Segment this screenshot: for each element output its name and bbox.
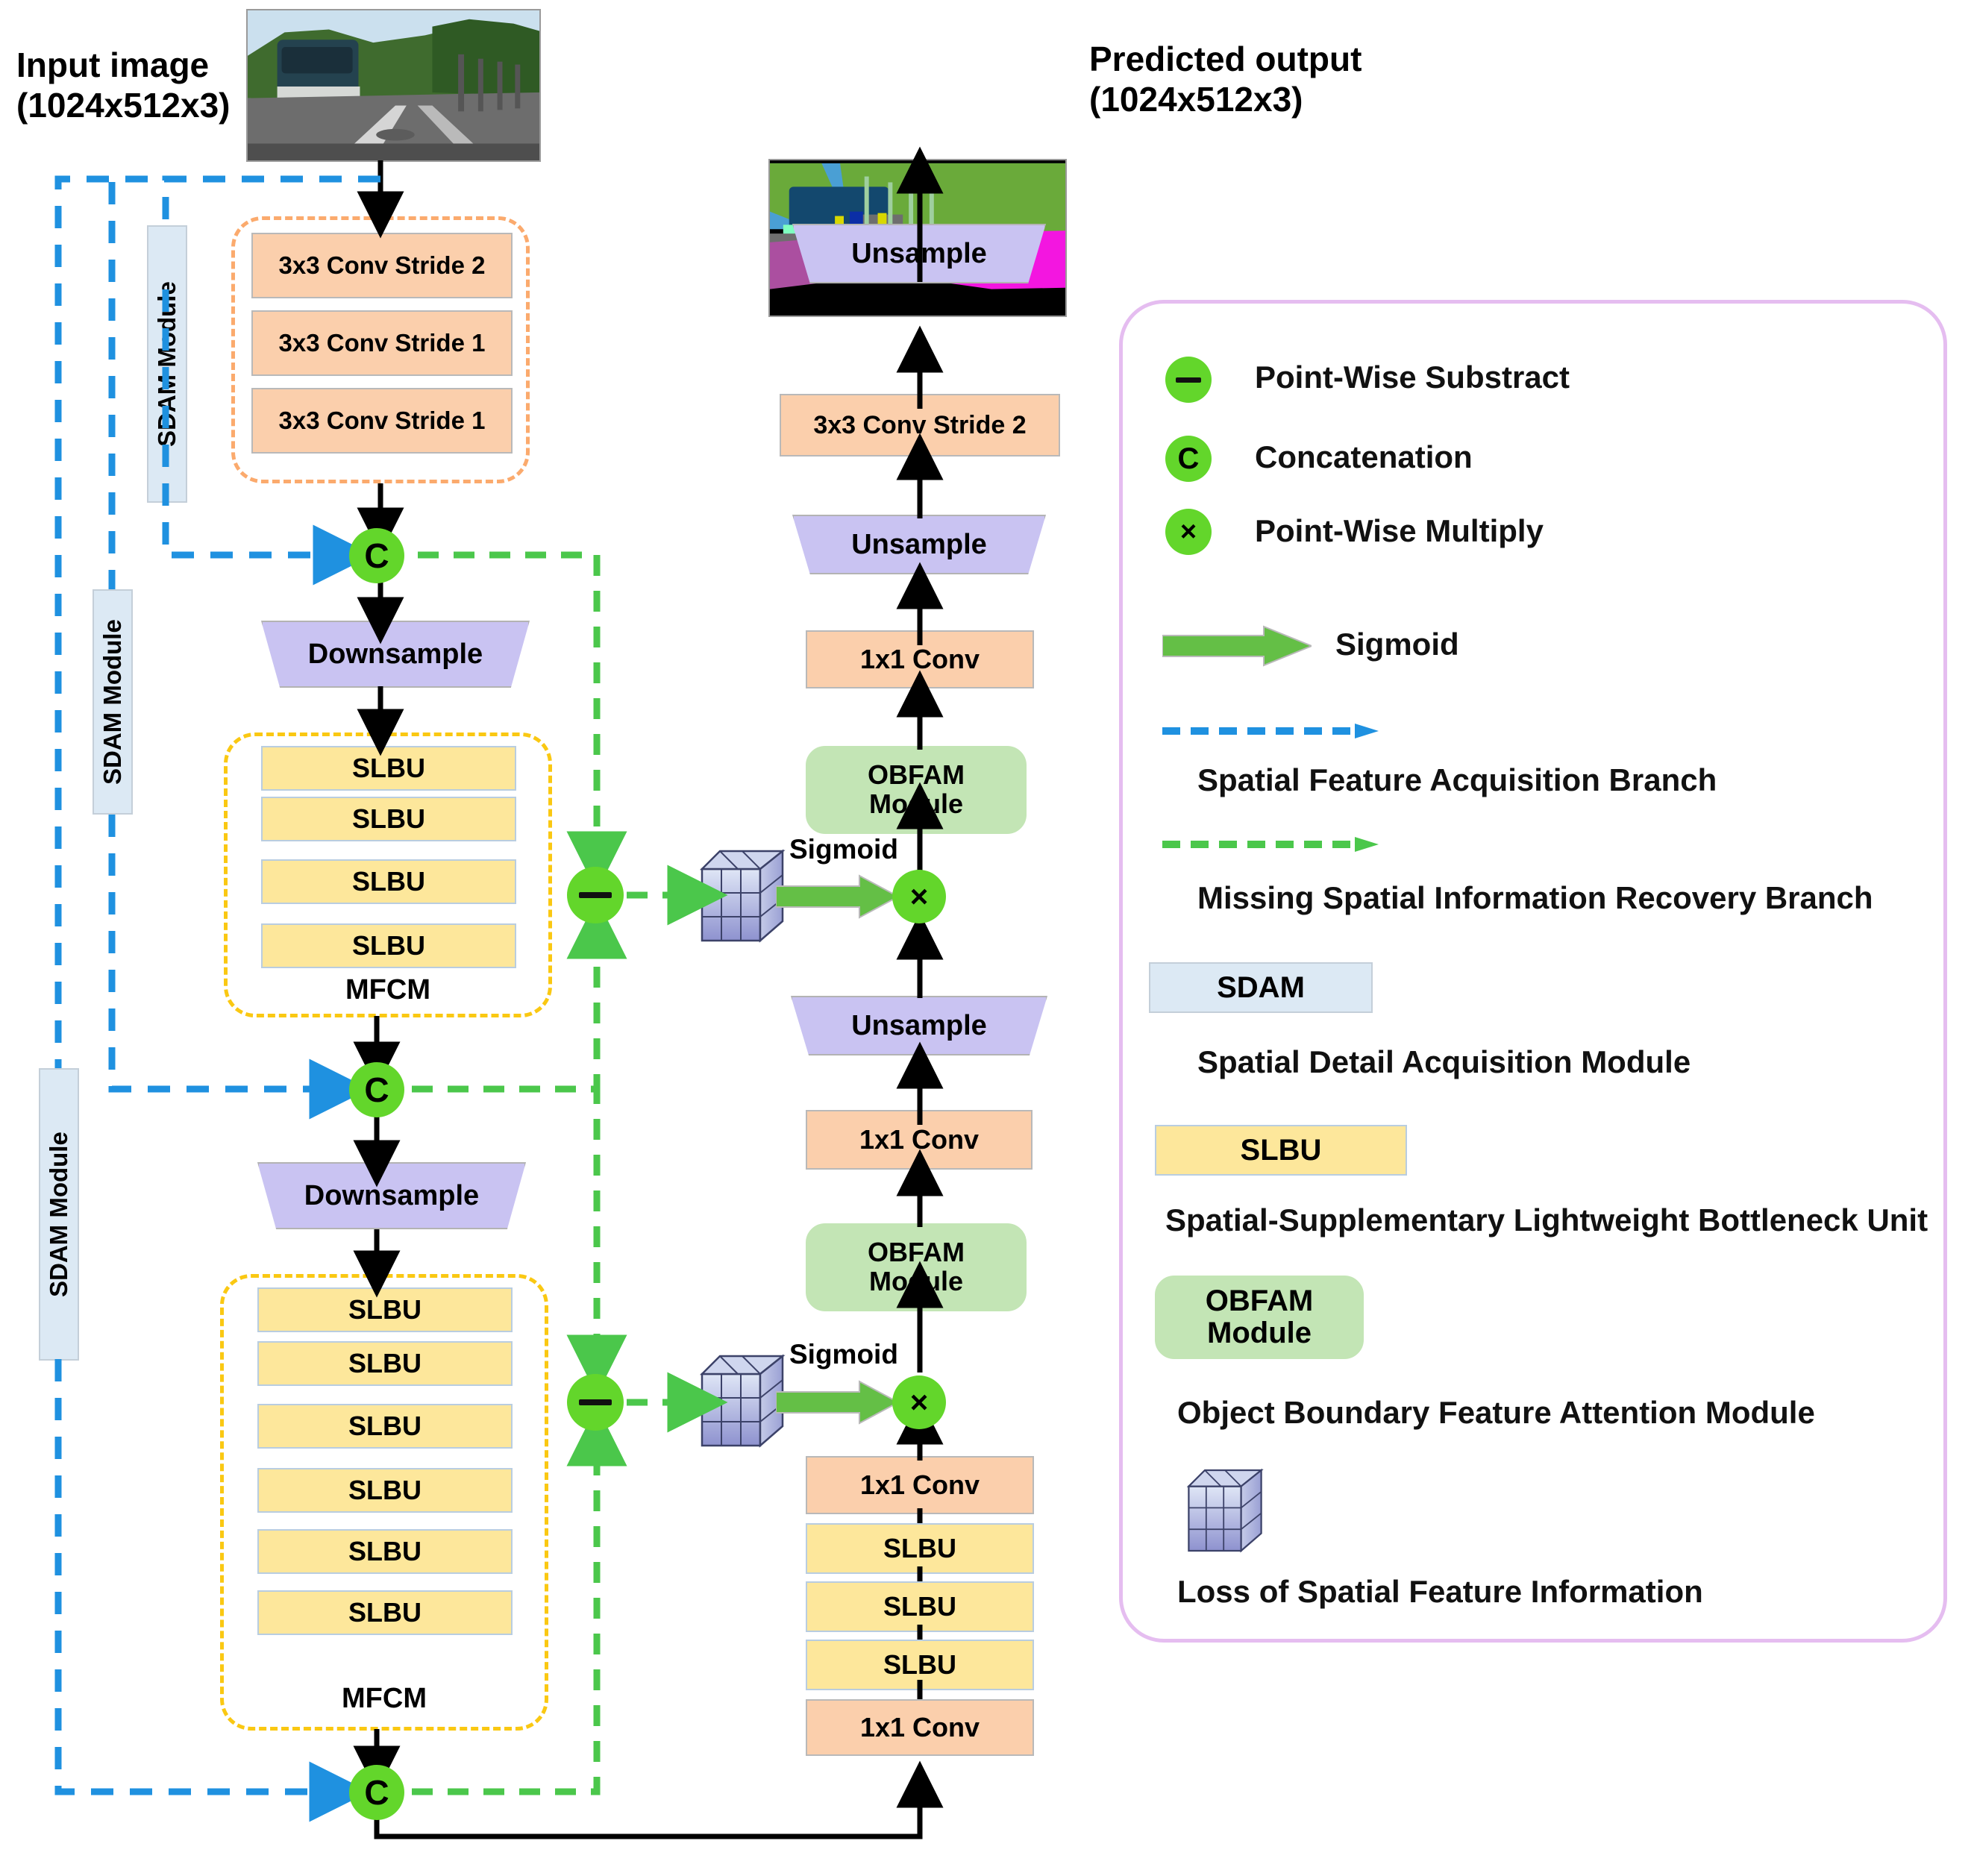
decoder-conv-1x1-c[interactable]: 1x1 Conv (806, 1456, 1034, 1514)
legend-label-spatial-branch: Spatial Feature Acquisition Branch (1197, 762, 1717, 798)
sigmoid-label-2: Sigmoid (789, 1339, 898, 1370)
legend-blue-dashed-arrow-icon (1162, 722, 1379, 740)
slbu-mfcm2-1[interactable]: SLBU (257, 1287, 513, 1332)
sdam-module-label-2: SDAM Module (93, 589, 133, 815)
legend-label-sigmoid: Sigmoid (1335, 627, 1459, 662)
legend-label-sdam: Spatial Detail Acquisition Module (1197, 1044, 1691, 1080)
multiply-node-1[interactable]: × (892, 870, 946, 923)
minus-glyph (579, 1399, 612, 1405)
legend-label-slbu: Spatial-Supplementary Lightweight Bottle… (1165, 1202, 1928, 1238)
decoder-conv-1x1-d[interactable]: 1x1 Conv (806, 1699, 1034, 1756)
slbu-mfcm1-1[interactable]: SLBU (261, 746, 516, 791)
legend-obfam-swatch: OBFAM Module (1155, 1276, 1364, 1359)
concat-node-2[interactable]: C (349, 1062, 404, 1117)
decoder-slbu-3[interactable]: SLBU (806, 1640, 1034, 1690)
legend-multiply-circle-icon: × (1165, 509, 1212, 555)
decoder-slbu-1[interactable]: SLBU (806, 1523, 1034, 1574)
legend-green-arrow-icon (1162, 625, 1312, 667)
predicted-output-label: Predicted output (1024x512x3) (1089, 39, 1403, 120)
sigmoid-label-1: Sigmoid (789, 834, 898, 865)
downsample-1[interactable]: Downsample (261, 621, 530, 688)
legend-label-obfam: Object Boundary Feature Attention Module (1177, 1395, 1815, 1431)
slbu-mfcm2-6[interactable]: SLBU (257, 1590, 513, 1635)
multiply-node-2[interactable]: × (892, 1375, 946, 1429)
legend-label-recovery-branch: Missing Spatial Information Recovery Bra… (1197, 880, 1873, 916)
concat-node-3[interactable]: C (349, 1765, 404, 1820)
slbu-mfcm1-3[interactable]: SLBU (261, 859, 516, 904)
input-image (246, 9, 541, 162)
decoder-unsample-1[interactable]: Unsample (792, 224, 1046, 283)
slbu-mfcm1-4[interactable]: SLBU (261, 923, 516, 968)
legend-label-loss-spatial: Loss of Spatial Feature Information (1177, 1574, 1703, 1610)
legend-green-dashed-arrow-icon (1162, 835, 1379, 853)
mfcm-label-1: MFCM (298, 970, 477, 1010)
obfam-module-2[interactable]: OBFAM Module (806, 1223, 1027, 1311)
slbu-mfcm2-2[interactable]: SLBU (257, 1341, 513, 1386)
subtract-node-2[interactable] (567, 1374, 624, 1431)
decoder-unsample-3[interactable]: Unsample (791, 996, 1047, 1055)
conv-3x3-stride1-encoder-b[interactable]: 3x3 Conv Stride 1 (251, 388, 513, 454)
sdam-module-label-3: SDAM Module (39, 1068, 79, 1361)
legend-sdam-swatch: SDAM (1149, 962, 1373, 1013)
decoder-conv-3x3-stride2[interactable]: 3x3 Conv Stride 2 (780, 394, 1060, 457)
subtract-node-1[interactable] (567, 867, 624, 923)
input-image-label: Input image (1024x512x3) (16, 45, 240, 126)
feature-cube-icon-2 (698, 1352, 787, 1450)
legend-concat-circle-icon: C (1165, 436, 1212, 482)
slbu-mfcm2-5[interactable]: SLBU (257, 1529, 513, 1574)
legend-slbu-swatch: SLBU (1155, 1125, 1407, 1176)
downsample-2[interactable]: Downsample (257, 1162, 526, 1229)
legend-label-concatenation: Concatenation (1255, 439, 1473, 475)
obfam-module-1[interactable]: OBFAM Module (806, 746, 1027, 834)
slbu-mfcm2-3[interactable]: SLBU (257, 1404, 513, 1449)
conv-3x3-stride1-encoder-a[interactable]: 3x3 Conv Stride 1 (251, 310, 513, 376)
decoder-slbu-2[interactable]: SLBU (806, 1581, 1034, 1632)
decoder-conv-1x1-a[interactable]: 1x1 Conv (806, 630, 1034, 688)
legend-label-subtract: Point-Wise Substract (1255, 360, 1570, 395)
legend-minus-circle-icon (1165, 357, 1212, 403)
legend-feature-cube-icon (1185, 1466, 1265, 1555)
decoder-unsample-2[interactable]: Unsample (792, 515, 1046, 574)
minus-glyph (579, 892, 612, 898)
legend-label-multiply: Point-Wise Multiply (1255, 513, 1544, 549)
slbu-mfcm1-2[interactable]: SLBU (261, 797, 516, 841)
concat-node-1[interactable]: C (349, 528, 404, 583)
conv-3x3-stride2-encoder[interactable]: 3x3 Conv Stride 2 (251, 233, 513, 298)
mfcm-label-2: MFCM (295, 1678, 474, 1719)
slbu-mfcm2-4[interactable]: SLBU (257, 1468, 513, 1513)
sigmoid-arrow-2 (776, 1380, 898, 1425)
sigmoid-arrow-1 (776, 874, 898, 919)
feature-cube-icon-1 (698, 847, 787, 945)
decoder-conv-1x1-b[interactable]: 1x1 Conv (806, 1110, 1033, 1170)
sdam-module-label-1: SDAM Module (147, 225, 187, 503)
minus-glyph (1176, 377, 1201, 383)
